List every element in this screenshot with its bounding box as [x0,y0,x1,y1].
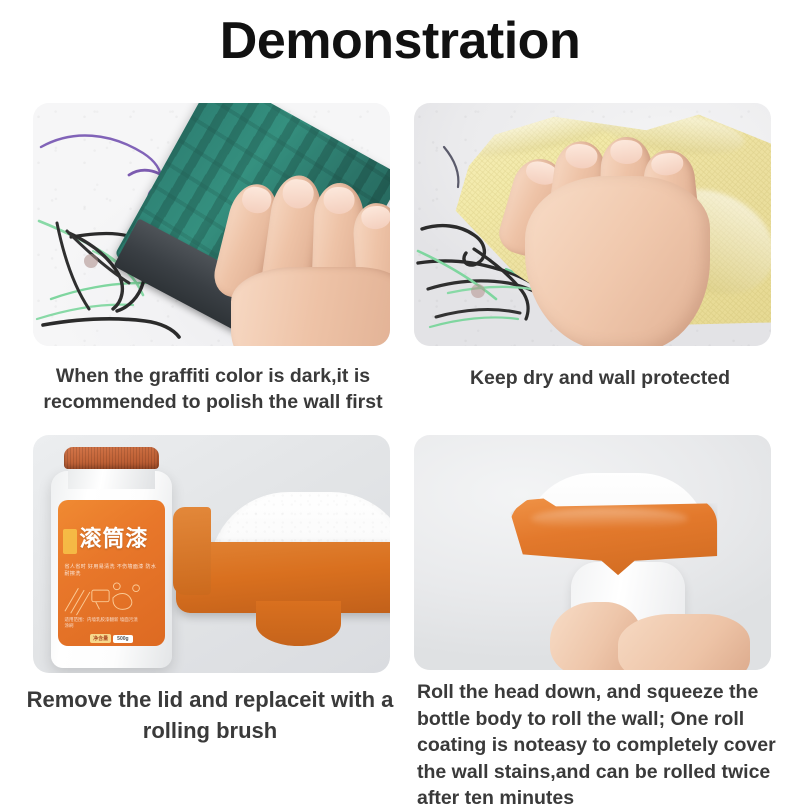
fingernail [651,151,685,176]
fingernail [610,140,642,165]
palm [231,267,390,346]
paint-bottle: 滚筒漆 省人省时 好用易清洗 不伤墙面漆 防水耐擦洗 适用范围：内墙乳胶漆 [51,447,172,668]
caption-roll-wall: Roll the head down, and squeeze the bott… [417,679,789,812]
bottle-cap [64,447,159,469]
fingernail [360,205,390,230]
roller-cradle-highlight [531,508,688,529]
label-weight: 净含量 500g [90,634,132,643]
hand [219,171,390,346]
panel-polish-wall [33,103,390,346]
label-illustration [63,573,159,623]
fingernail [280,177,315,210]
panel-remove-lid-photo: 滚筒漆 省人省时 好用易清洗 不伤墙面漆 防水耐擦洗 适用范围：内墙乳胶漆 [33,435,390,673]
palm [525,176,711,347]
cap-texture [64,447,159,469]
hand [550,585,750,670]
roller-brush-head [510,473,717,591]
label-badge [63,529,77,554]
fingernail [564,143,599,171]
roller-brush-head [176,492,390,640]
panel-keep-dry-photo [414,103,771,346]
panel-keep-dry [414,103,771,346]
hand [507,137,728,346]
panel-remove-lid: 滚筒漆 省人省时 好用易清洗 不伤墙面漆 防水耐擦洗 适用范围：内墙乳胶漆 [33,435,390,673]
panel-roll-wall [414,435,771,670]
caption-remove-lid: Remove the lid and replaceit with a roll… [20,684,400,746]
fingernail [239,184,274,216]
weight-value: 500g [113,635,132,643]
caption-polish-wall: When the graffiti color is dark,it is re… [18,364,408,415]
roller-cradle-lip [173,507,211,596]
weight-tag: 净含量 [90,634,111,643]
panel-polish-wall-photo [33,103,390,346]
fingernail [323,186,355,214]
roller-stem [256,601,341,645]
label-footnote: 适用范围：内墙乳胶漆翻新 墙面污渍涂刷 [65,617,140,629]
palm [618,614,750,670]
panel-roll-wall-photo [414,435,771,670]
label-title: 滚筒漆 [79,520,160,558]
bottle-label: 滚筒漆 省人省时 好用易清洗 不伤墙面漆 防水耐擦洗 适用范围：内墙乳胶漆 [58,500,165,646]
caption-keep-dry: Keep dry and wall protected [410,366,790,392]
